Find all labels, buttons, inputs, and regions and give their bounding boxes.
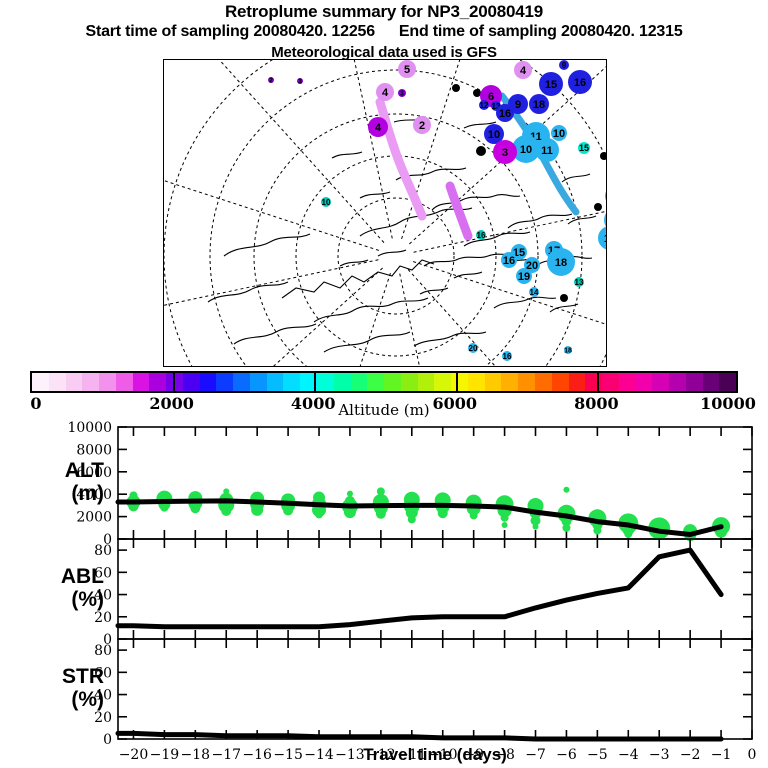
colorbar-segment (535, 373, 552, 391)
colorbar-segment (32, 373, 49, 391)
plume-marker: 19 (516, 268, 532, 284)
panel-label-line1: STR (8, 665, 104, 688)
plume-marker: 9 (560, 294, 568, 303)
plume-marker-label: 13 (575, 278, 584, 287)
plume-marker: 3 (398, 89, 406, 98)
colorbar-segment (384, 373, 401, 391)
scatter-point (129, 491, 137, 499)
colorbar-segment (719, 373, 736, 391)
plume-marker-label: 2 (419, 120, 425, 132)
plume-marker: 16 (568, 70, 592, 94)
plume-marker-label: 10 (553, 128, 565, 140)
plume-marker-label: 5 (475, 91, 479, 98)
plume-marker: 5 (398, 60, 416, 78)
panel-label-line2: (m) (8, 482, 104, 505)
colorbar-segment (602, 373, 619, 391)
plume-marker: 15 (539, 72, 563, 96)
plume-marker-label: 12 (600, 154, 606, 161)
plume-marker: 16 (502, 351, 512, 361)
plume-marker: 9 (559, 60, 569, 70)
plume-marker: 12 (479, 100, 489, 110)
colorbar-segment (518, 373, 535, 391)
plume-marker-label: 16 (477, 231, 486, 240)
plume-marker: 4 (452, 84, 460, 93)
colorbar-segment (569, 373, 586, 391)
plume-marker: 4 (368, 117, 388, 137)
plume-marker-label: 18 (555, 257, 567, 269)
plume-marker-label: 16 (503, 352, 512, 361)
colorbar-segment (334, 373, 351, 391)
y-tick-label: 10000 (67, 420, 112, 436)
plume-marker: 3 (493, 140, 517, 164)
plume-marker-label: 4 (375, 122, 382, 134)
plume-marker-label: 4 (520, 65, 527, 77)
plume-marker-label: 3 (298, 79, 302, 86)
colorbar-segment (283, 373, 300, 391)
plume-marker-label: 16 (499, 108, 511, 120)
panel-label-alt: ALT(m) (8, 459, 104, 505)
plume-marker-label: 16 (503, 255, 515, 267)
plume-marker: 18 (529, 94, 549, 114)
colorbar-segment (149, 373, 166, 391)
plume-marker-label: 2 (479, 147, 484, 156)
colorbar-segment (49, 373, 66, 391)
scatter-point (563, 487, 569, 493)
scatter-point (533, 524, 539, 530)
plume-marker: 8 (594, 203, 602, 212)
colorbar-segment (99, 373, 116, 391)
scatter-point (160, 504, 168, 512)
colorbar-segment (200, 373, 217, 391)
y-tick-label: 8000 (76, 442, 112, 458)
plume-marker: 2 (268, 77, 274, 85)
colorbar-axis-title: Altitude (m) (0, 401, 768, 419)
plume-markers: 2354915164345612139181642101110101115231… (268, 60, 606, 361)
plume-marker-label: 3 (400, 91, 404, 98)
plume-marker-label: 10 (322, 198, 331, 207)
plume-marker-label: 4 (382, 87, 389, 99)
plume-marker-label: 9 (562, 61, 567, 70)
scatter-point (438, 508, 448, 518)
scatter-point (190, 503, 200, 513)
plume-marker-label: 12 (480, 101, 489, 110)
panel-label-line1: ALT (8, 459, 104, 482)
scatter-point (315, 510, 323, 518)
plume-marker: 16 (501, 252, 517, 268)
plume-marker: 18 (547, 248, 575, 276)
plume-marker: 16 (598, 226, 606, 250)
plume-marker: 16 (496, 104, 514, 122)
panel-label-line1: ABL (8, 565, 104, 588)
plume-marker-label: 14 (530, 288, 539, 297)
colorbar-segment (686, 373, 703, 391)
plume-marker-label: 10 (488, 129, 500, 141)
plume-marker-label: 18 (564, 348, 572, 355)
colorbar-major-tick (456, 373, 458, 391)
page-title: Retroplume summary for NP3_20080419 (0, 2, 768, 22)
y-tick-label: 80 (94, 643, 112, 659)
colorbar-segment (468, 373, 485, 391)
colorbar-major-tick (314, 373, 316, 391)
colorbar-segment (619, 373, 636, 391)
colorbar-segment (501, 373, 518, 391)
plume-marker: 12 (600, 152, 606, 161)
plume-marker: 2 (413, 116, 431, 134)
colorbar-segment (183, 373, 200, 391)
plume-marker: 10 (551, 125, 567, 141)
colorbar-segment (451, 373, 468, 391)
plume-marker: 9 (605, 186, 606, 206)
colorbar-segment (552, 373, 569, 391)
colorbar-segment (66, 373, 83, 391)
plume-marker: 13 (574, 277, 584, 287)
start-time-label: Start time of sampling 20080420. 12256 (85, 23, 374, 41)
plume-marker-label: 16 (574, 77, 586, 89)
scatter-point (223, 488, 229, 494)
colorbar-segment (585, 373, 602, 391)
panel-label-line2: (%) (8, 588, 104, 611)
colorbar-segment (267, 373, 284, 391)
y-tick-label: 20 (94, 710, 112, 726)
plume-marker: 20 (468, 343, 478, 353)
plume-marker-label: 19 (518, 271, 530, 283)
colorbar-segment (367, 373, 384, 391)
plume-marker-label: 8 (596, 205, 600, 212)
colorbar-major-tick (597, 373, 599, 391)
colorbar-segment (250, 373, 267, 391)
scatter-point (347, 491, 353, 497)
scatter-point (593, 527, 601, 535)
map-canvas: 2354915164345612139181642101110101115231… (164, 60, 606, 366)
colorbar-segment (485, 373, 502, 391)
plume-marker-label: 15 (579, 143, 589, 153)
plume-marker-label: 10 (520, 144, 532, 156)
plume-marker: 2 (476, 146, 486, 156)
plume-marker: 10 (321, 197, 331, 207)
scatter-point (376, 509, 386, 519)
scatter-point (470, 511, 478, 519)
plume-marker-label: 16 (604, 233, 606, 245)
scatter-point (562, 524, 570, 532)
scatter-point (221, 506, 231, 516)
plume-marker-label: 11 (541, 145, 553, 157)
plume-marker-label: 3 (502, 147, 508, 159)
trend-line (118, 733, 721, 739)
colorbar-segment (82, 373, 99, 391)
colorbar-segment (216, 373, 233, 391)
y-tick-label: 2000 (76, 510, 112, 526)
plume-marker: 11 (535, 138, 559, 162)
plume-marker-label: 18 (533, 99, 545, 111)
plume-marker-label: 5 (404, 64, 410, 76)
x-axis-title: Travel time (days) (118, 745, 752, 765)
panel-label-abl: ABL(%) (8, 565, 104, 611)
scatter-point (192, 491, 198, 497)
plume-marker: 18 (564, 346, 572, 355)
timeseries-panels: 0200040006000800010000020406080020406080… (0, 420, 768, 768)
colorbar-segment (351, 373, 368, 391)
colorbar-segment (652, 373, 669, 391)
y-tick-label: 80 (94, 543, 112, 559)
colorbar-segment (317, 373, 334, 391)
y-tick-label: 20 (94, 610, 112, 626)
plume-marker: 14 (529, 287, 539, 297)
end-time-label: End time of sampling 20080420. 12315 (399, 23, 683, 41)
scatter-point (501, 514, 509, 522)
plume-marker: 4 (376, 83, 394, 101)
colorbar-segment (418, 373, 435, 391)
colorbar-major-tick (173, 373, 175, 391)
timeseries-canvas: 0200040006000800010000020406080020406080… (0, 420, 768, 768)
plume-marker-label: 9 (515, 99, 521, 111)
plume-marker: 15 (578, 142, 590, 154)
retroplume-map[interactable]: 2354915164345612139181642101110101115231… (163, 59, 607, 367)
plume-marker: 4 (514, 61, 532, 79)
plume-marker-label: 20 (469, 344, 478, 353)
plume-marker-label: 4 (454, 86, 458, 93)
plume-marker: 16 (476, 230, 486, 240)
colorbar-segment (116, 373, 133, 391)
scatter-point (283, 505, 293, 515)
panel-label-line2: (%) (8, 688, 104, 711)
colorbar-segment (133, 373, 150, 391)
trend-line (118, 550, 721, 627)
plume-marker-label: 9 (562, 296, 566, 303)
colorbar-segment (636, 373, 653, 391)
scatter-point (502, 522, 508, 528)
plume-marker-label: 15 (545, 79, 557, 91)
panel-label-str: STR(%) (8, 665, 104, 711)
scatter-point (624, 530, 632, 538)
plume-marker: 5 (473, 89, 481, 98)
colorbar-segment (669, 373, 686, 391)
y-tick-label: 0 (103, 732, 112, 748)
colorbar-strip (30, 371, 738, 393)
colorbar-segment (703, 373, 720, 391)
colorbar-segment (233, 373, 250, 391)
sampling-time-row: Start time of sampling 20080420. 12256En… (0, 23, 768, 41)
plume-marker: 3 (297, 78, 303, 86)
scatter-point (251, 504, 263, 516)
scatter-point (408, 515, 416, 523)
colorbar-segment (401, 373, 418, 391)
colorbar-segment (434, 373, 451, 391)
plume-marker-label: 2 (269, 78, 273, 85)
